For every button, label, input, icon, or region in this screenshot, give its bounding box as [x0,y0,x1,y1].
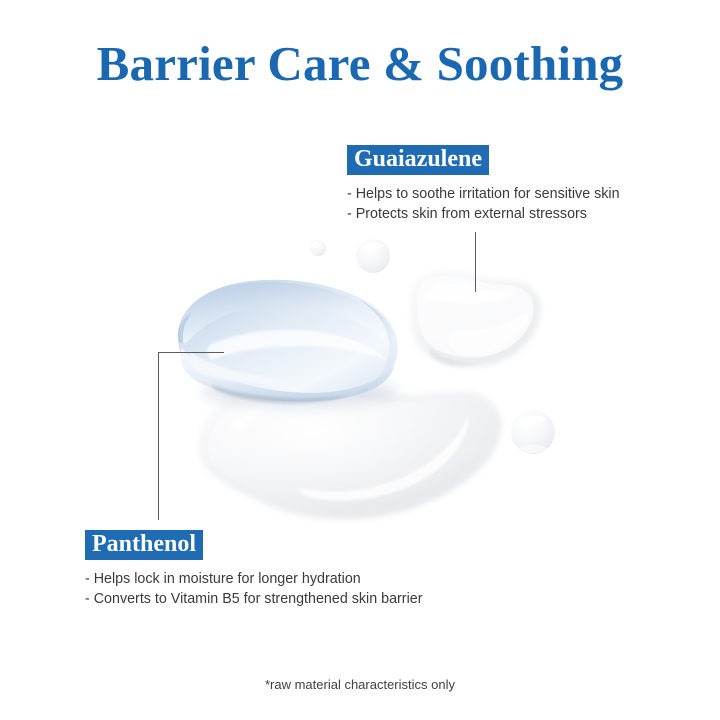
page-title: Barrier Care & Soothing [0,38,720,89]
leader-line-panthenol-horizontal [158,352,224,353]
ingredient-badge-guaiazulene: Guaiazulene [347,145,489,175]
ingredient-badge-panthenol: Panthenol [85,530,203,560]
benefit-item: - Protects skin from external stressors [347,204,620,224]
callout-guaiazulene: Guaiazulene - Helps to soothe irritation… [347,145,620,224]
benefit-item: - Helps to soothe irritation for sensiti… [347,184,620,204]
callout-panthenol: Panthenol - Helps lock in moisture for l… [85,530,422,609]
droplet-right [511,410,555,454]
white-cream-pool [198,379,502,520]
leader-line-panthenol-vertical [158,352,159,520]
benefit-item: - Converts to Vitamin B5 for strengthene… [85,589,422,609]
footnote: *raw material characteristics only [0,677,720,692]
benefit-list-panthenol: - Helps lock in moisture for longer hydr… [85,569,422,609]
droplet-medium [356,239,390,273]
benefit-list-guaiazulene: - Helps to soothe irritation for sensiti… [347,184,620,224]
product-texture-artwork [0,0,720,720]
leader-line-guaiazulene [475,232,476,292]
blue-cream-swatch [178,280,400,408]
droplet-small [310,240,326,256]
benefit-item: - Helps lock in moisture for longer hydr… [85,569,422,589]
ingredient-infographic: Barrier Care & Soothing Guaiazulene - He… [0,0,720,720]
